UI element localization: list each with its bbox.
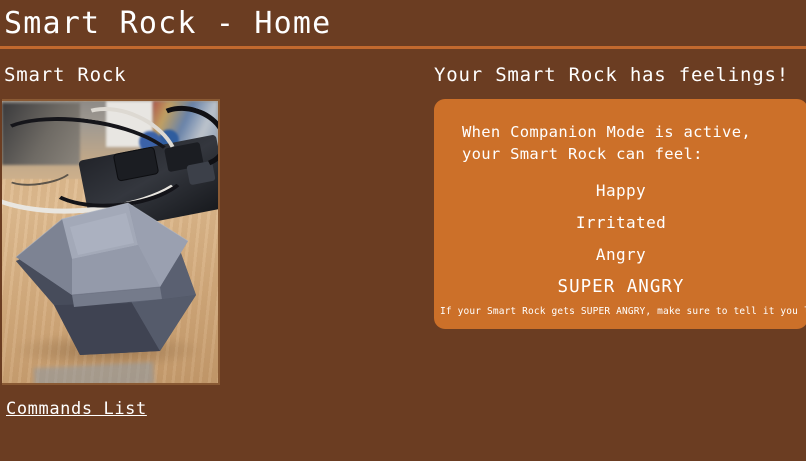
emotion-item: Angry: [434, 245, 806, 265]
super-angry-footnote: If your Smart Rock gets SUPER ANGRY, mak…: [434, 305, 806, 323]
commands-list-link[interactable]: Commands List: [6, 399, 147, 419]
companion-mode-intro: When Companion Mode is active, your Smar…: [434, 121, 806, 165]
feelings-card: When Companion Mode is active, your Smar…: [434, 99, 806, 329]
photo-canvas: [2, 101, 218, 383]
left-column: Smart Rock: [0, 63, 418, 419]
smart-rock-object: [10, 183, 210, 361]
emotion-item: Irritated: [434, 213, 806, 233]
emotions-list: Happy Irritated Angry SUPER ANGRY: [434, 181, 806, 297]
smart-rock-photo: [2, 99, 220, 385]
emotion-item: Happy: [434, 181, 806, 201]
right-section-heading: Your Smart Rock has feelings!: [434, 63, 806, 87]
emotion-item: SUPER ANGRY: [434, 277, 806, 297]
page-title: Smart Rock - Home: [0, 0, 806, 46]
content-columns: Smart Rock: [0, 49, 806, 419]
left-section-heading: Smart Rock: [4, 63, 418, 87]
right-column: Your Smart Rock has feelings! When Compa…: [418, 63, 806, 329]
